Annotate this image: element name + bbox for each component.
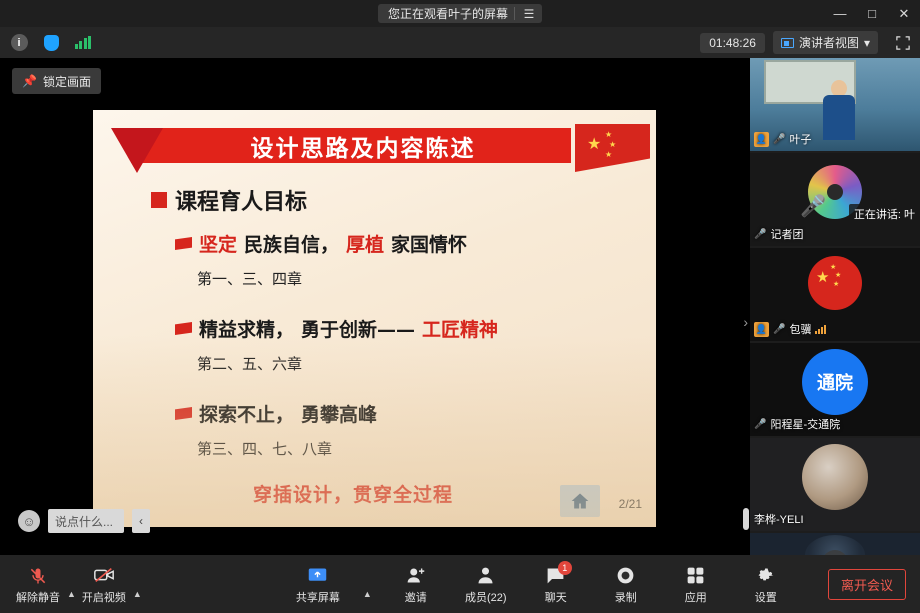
square-bullet-icon [151,192,167,208]
title-bar: 您正在观看叶子的屏幕 ☰ — □ ✕ [0,0,920,27]
record-icon [615,564,636,586]
video-tile[interactable]: 李桦-YELI [750,438,920,531]
invite-button[interactable]: 邀请 [390,555,442,613]
video-tile[interactable]: 🎤 正在讲话: 叶 🎤 记者团 [750,153,920,246]
toolbar-right: 01:48:26 演讲者视图 ▾ [700,27,920,58]
participant-figure [822,80,856,140]
chat-collapse-button[interactable]: ‹ [132,509,150,533]
tile-label: 李桦-YELI [754,511,804,527]
person-icon: 👤 [754,322,769,337]
floating-chat-bar[interactable]: ☺ 说点什么... ‹ [18,509,150,533]
share-screen-icon [307,564,328,586]
mic-off-icon: 🎤 [800,195,826,219]
left-controls: 解除静音 ▲ 开启视频 ▲ [0,555,142,613]
gear-icon [755,564,776,586]
point-3-mid: 勇攀高峰 [301,400,377,427]
meeting-toolbar: i 01:48:26 演讲者视图 ▾ [0,27,920,58]
mic-off-icon: 🎤 [754,229,766,240]
photo-avatar [802,444,868,510]
signal-bars-icon[interactable] [70,32,96,54]
mic-muted-icon [28,564,48,586]
slide-point-2: 精益求精， 勇于创新—— 工匠精神 [175,315,498,342]
chat-button[interactable]: 1 聊天 [530,555,582,613]
slide-footer-text: 穿插设计，贯穿全过程 [253,480,453,507]
share-options-caret[interactable]: ▲ [363,589,372,599]
video-tile[interactable]: ★ ★ ★ ★ 👤 🎤 包骥 [750,248,920,341]
info-glyph: i [11,34,28,51]
close-button[interactable]: ✕ [888,0,920,27]
flag-bullet-icon [175,237,192,250]
star-small-2: ★ [835,271,841,279]
shield-icon[interactable] [38,32,64,54]
flag-bullet-icon [175,407,192,420]
chat-input[interactable]: 说点什么... [48,509,124,533]
presentation-slide: 设计思路及内容陈述 ★ ★ ★ ★ 课程育人目标 坚定 民族自信， 厚植 家国情… [93,110,656,527]
video-label: 开启视频 [82,589,126,605]
hamburger-icon[interactable]: ☰ [521,7,537,21]
star-small-1: ★ [830,263,836,271]
lock-view-button[interactable]: 📌 锁定画面 [12,68,101,94]
maximize-button[interactable]: □ [856,0,888,27]
point-3-pre: 探索不止， [199,400,294,427]
pin-icon: 📌 [22,74,37,88]
minimize-button[interactable]: — [824,0,856,27]
mic-on-icon: 🎤 [773,134,785,145]
leave-meeting-button[interactable]: 离开会议 [828,569,906,600]
apps-button[interactable]: 应用 [670,555,722,613]
star-small-1: ★ [605,130,612,139]
flag-decoration-icon: ★ ★ ★ ★ [575,124,650,172]
lock-view-label: 锁定画面 [43,73,91,90]
point-1-post: 家国情怀 [391,230,467,257]
tile-name: 李桦-YELI [754,511,804,527]
slide-title: 设计思路及内容陈述 [153,128,573,163]
apps-icon [685,564,706,586]
china-flag-avatar: ★ ★ ★ ★ [808,256,862,310]
star-small-3: ★ [605,150,612,159]
divider [514,7,515,20]
slide-page-number: 2/21 [619,497,642,511]
settings-label: 设置 [755,589,777,605]
point-1-mid: 民族自信， [244,230,339,257]
point-1-pre: 坚定 [199,230,237,257]
star-small-2: ★ [609,140,616,149]
tile-name: 记者团 [770,226,803,242]
initials-avatar: 通院 [802,349,868,415]
slide-section-heading: 课程育人目标 [151,184,307,216]
flag-bullet-icon [175,322,192,335]
tile-label: 👤 🎤 包骥 [754,321,826,337]
participants-icon [475,564,496,586]
shared-screen-area[interactable]: 📌 锁定画面 设计思路及内容陈述 ★ ★ ★ ★ 课程育人目标 坚定 民族自信 [0,58,750,555]
camera-off-icon [93,564,115,586]
mic-off-icon: 🎤 [754,419,766,430]
apps-label: 应用 [685,589,707,605]
center-controls: 共享屏幕 ▲ 邀请 [292,555,792,613]
invite-icon [405,564,426,586]
video-tile[interactable]: ⌄ [750,533,920,555]
point-2-pre: 精益求精， [199,315,294,342]
speaker-view-icon [781,38,794,48]
mic-off-icon: 🎤 [773,324,785,335]
tile-label: 🎤 记者团 [754,226,803,242]
share-screen-button[interactable]: 共享屏幕 [292,555,344,613]
person-icon: 👤 [754,132,769,147]
star-small-3: ★ [833,280,839,288]
slide-point-1-sub: 第一、三、四章 [197,268,302,289]
chevron-down-icon: ▾ [864,36,870,50]
share-screen-label: 共享屏幕 [296,589,340,605]
speaking-indicator: 正在讲话: 叶 [849,204,920,224]
info-icon[interactable]: i [6,32,32,54]
slide-point-2-sub: 第二、五、六章 [197,353,302,374]
section-label: 课程育人目标 [175,184,307,216]
chat-label: 聊天 [545,589,567,605]
screen-share-banner: 您正在观看叶子的屏幕 ☰ [378,4,542,23]
mute-label: 解除静音 [16,589,60,605]
window-controls: — □ ✕ [824,0,920,27]
slide-point-1: 坚定 民族自信， 厚植 家国情怀 [175,230,467,257]
body-shape [823,95,855,140]
point-2-mid: 勇于创新—— [301,315,415,342]
star-large: ★ [816,268,829,286]
video-options-caret[interactable]: ▲ [133,589,142,599]
star-large: ★ [587,134,601,154]
point-2-hl: 工匠精神 [422,315,498,342]
smiley-icon[interactable]: ☺ [18,510,40,532]
participants-label: 成员(22) [465,589,507,605]
signal-bars-icon [815,325,826,334]
chat-unread-badge: 1 [558,561,572,575]
video-tile[interactable]: 👤 🎤 叶子 [750,58,920,151]
mute-options-caret[interactable]: ▲ [67,589,76,599]
fullscreen-icon[interactable] [886,27,920,58]
slide-point-3-sub: 第三、四、七、八章 [197,438,332,459]
tile-name: 叶子 [789,131,811,147]
participants-video-rail[interactable]: 👤 🎤 叶子 🎤 正在讲话: 叶 🎤 记者团 ★ ★ ★ ★ 👤 [750,58,920,555]
tile-label: 👤 🎤 叶子 [754,131,811,147]
slide-point-3: 探索不止， 勇攀高峰 [175,400,377,427]
signal-glyph [75,36,92,49]
expand-panel-arrow-icon[interactable]: › [743,314,748,330]
meeting-timer: 01:48:26 [700,33,765,53]
invite-label: 邀请 [405,589,427,605]
share-scrollbar-thumb[interactable] [743,508,749,530]
view-mode-label: 演讲者视图 [799,34,859,51]
tile-label: 🎤 阳程星-交通院 [754,416,840,432]
record-button[interactable]: 录制 [600,555,652,613]
video-tile[interactable]: 通院 🎤 阳程星-交通院 [750,343,920,436]
settings-button[interactable]: 设置 [740,555,792,613]
point-1-hl: 厚植 [346,230,384,257]
record-label: 录制 [615,589,637,605]
meeting-window: 您正在观看叶子的屏幕 ☰ — □ ✕ i 01:48:26 演讲者视图 [0,0,920,613]
meeting-control-bar: 解除静音 ▲ 开启视频 ▲ [0,555,920,613]
home-icon[interactable] [560,485,600,517]
shield-glyph [44,35,59,51]
watching-label: 您正在观看叶子的屏幕 [388,5,508,22]
participants-button[interactable]: 成员(22) [460,555,512,613]
tile-name: 包骥 [789,321,811,337]
mute-button[interactable]: 解除静音 [12,555,64,613]
video-button[interactable]: 开启视频 [78,555,130,613]
view-mode-selector[interactable]: 演讲者视图 ▾ [773,31,878,54]
tile-name: 阳程星-交通院 [770,416,840,432]
